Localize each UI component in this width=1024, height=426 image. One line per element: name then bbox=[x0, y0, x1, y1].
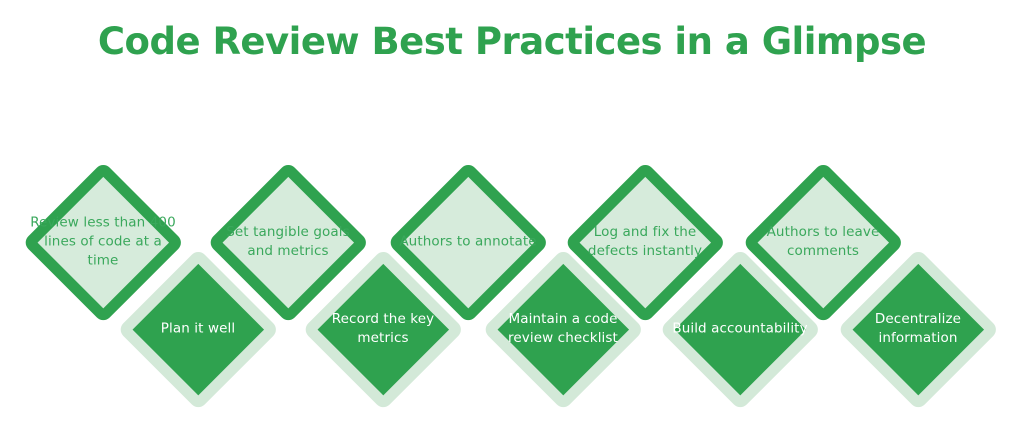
diamond-item-3[interactable]: Set tangible goals and metrics bbox=[207, 161, 369, 323]
diamond-item-1[interactable]: Review less than 400 lines of code at a … bbox=[22, 161, 184, 323]
infographic-canvas: Code Review Best Practices in a Glimpse … bbox=[0, 0, 1024, 426]
diamond-item-5[interactable]: Authors to annotate bbox=[387, 161, 549, 323]
diamond-item-7[interactable]: Log and fix the defects instantly bbox=[564, 161, 726, 323]
diamond-shape-1 bbox=[22, 161, 184, 323]
diamond-item-9[interactable]: Authors to leave comments bbox=[742, 161, 904, 323]
diamond-shape-7 bbox=[564, 161, 726, 323]
diamond-shape-5 bbox=[387, 161, 549, 323]
diamond-sequence: Review less than 400 lines of code at a … bbox=[0, 0, 1024, 426]
diamond-shape-9 bbox=[742, 161, 904, 323]
diamond-shape-3 bbox=[207, 161, 369, 323]
